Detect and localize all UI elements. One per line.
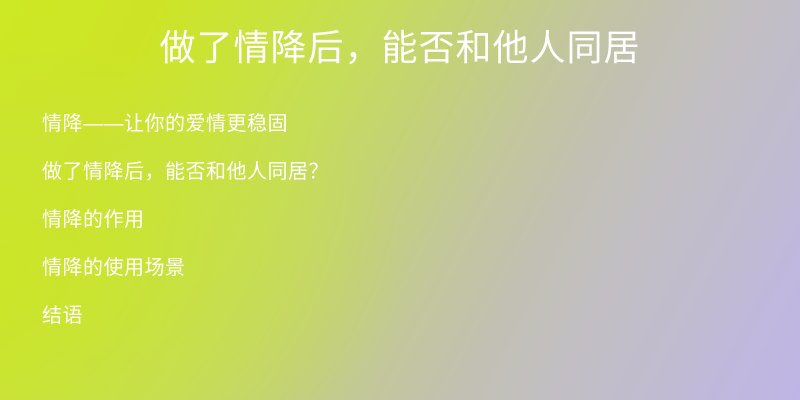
list-item: 做了情降后，能否和他人同居？ — [42, 148, 329, 196]
poster-canvas: 做了情降后，能否和他人同居 情降——让你的爱情更稳固 做了情降后，能否和他人同居… — [0, 0, 800, 400]
page-title: 做了情降后，能否和他人同居 — [0, 25, 800, 71]
list-item: 情降——让你的爱情更稳固 — [42, 100, 329, 148]
list-item: 结语 — [42, 292, 329, 340]
list-item: 情降的作用 — [42, 196, 329, 244]
outline-list: 情降——让你的爱情更稳固 做了情降后，能否和他人同居？ 情降的作用 情降的使用场… — [42, 100, 329, 340]
list-item: 情降的使用场景 — [42, 244, 329, 292]
